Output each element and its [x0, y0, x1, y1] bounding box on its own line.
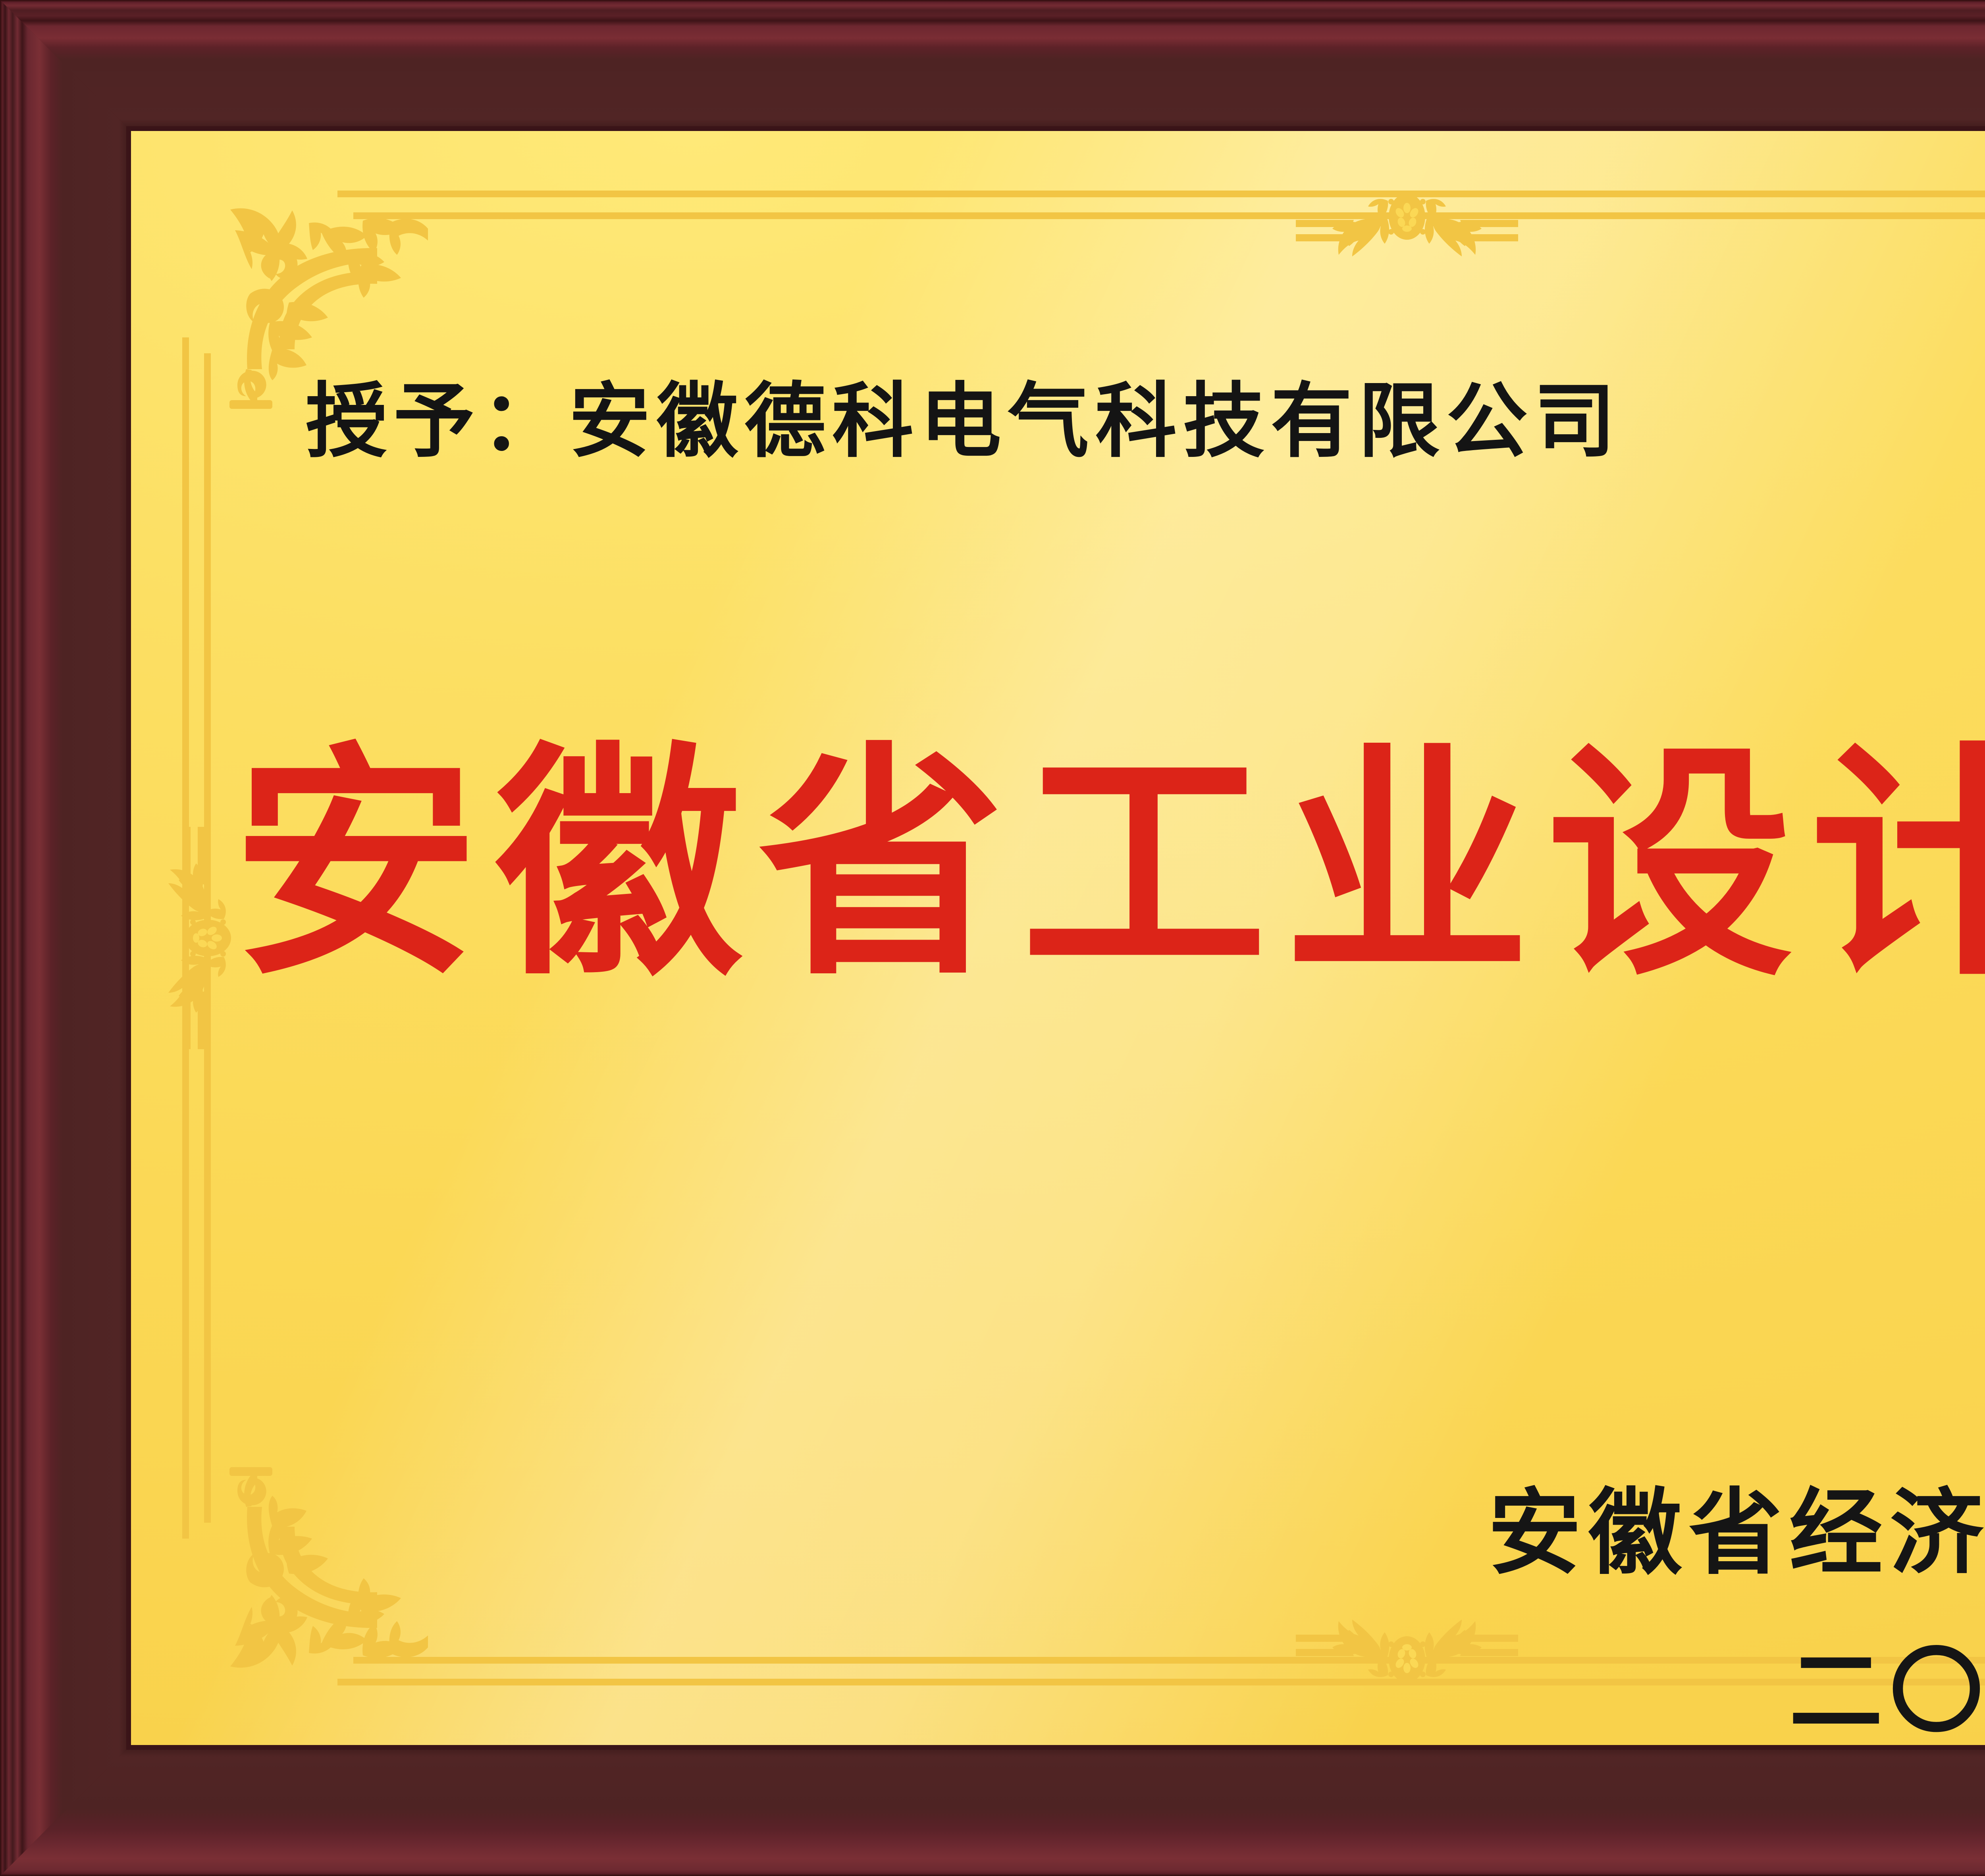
certificate-plaque: 授予：安徽德科电气科技有限公司 安徽省工业设计中心 安徽省经济和信息化厅 二〇二…: [0, 0, 1985, 1876]
page-title: 安徽省工业设计中心: [216, 742, 1985, 988]
rule-bottom-inner: [353, 1657, 1985, 1664]
rule-left-inner: [204, 353, 211, 1523]
rule-bottom-outer: [337, 1679, 1985, 1685]
rule-left-outer: [182, 337, 189, 1539]
frame-rail-bottom: [0, 1745, 1985, 1876]
issue-date: 二〇二〇年七月: [1789, 1616, 1985, 1745]
issuer-name: 安徽省经济和信息化厅: [1488, 1457, 1985, 1592]
frame-rail-left: [0, 0, 131, 1876]
rule-top-inner: [353, 212, 1985, 219]
awardee-line: 授予：安徽德科电气科技有限公司: [306, 355, 1622, 473]
gold-plate: 授予：安徽德科电气科技有限公司 安徽省工业设计中心 安徽省经济和信息化厅 二〇二…: [131, 131, 1985, 1745]
rule-top-outer: [337, 191, 1985, 197]
corner-ornament-bottom-left: [191, 1467, 437, 1713]
frame-rail-top: [0, 0, 1985, 131]
